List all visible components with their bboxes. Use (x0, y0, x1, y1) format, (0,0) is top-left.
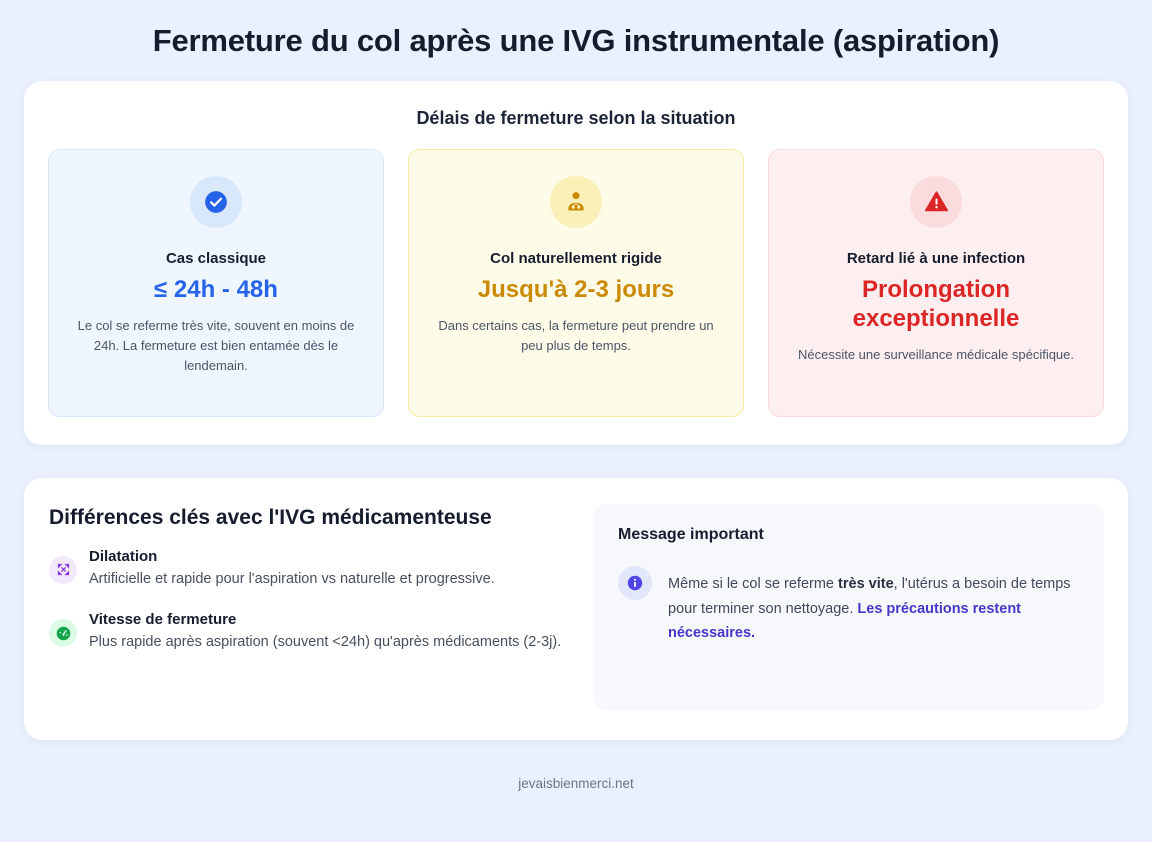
difference-text: Artificielle et rapide pour l'aspiration… (89, 567, 568, 591)
gauge-speed-icon (49, 619, 77, 647)
delay-card-label: Retard lié à une infection (787, 250, 1085, 267)
differences-title: Différences clés avec l'IVG médicamenteu… (49, 506, 568, 530)
info-circle-icon (618, 566, 652, 600)
delay-card-infection: Retard lié à une infection Prolongation … (768, 149, 1104, 417)
important-message-title: Message important (618, 526, 1080, 544)
difference-heading: Vitesse de fermeture (89, 611, 568, 628)
user-doctor-icon (550, 176, 602, 228)
difference-item-vitesse: Vitesse de fermeture Plus rapide après a… (49, 611, 568, 654)
footer-site-name: jevaisbienmerci.net (0, 740, 1152, 819)
difference-text: Plus rapide après aspiration (souvent <2… (89, 630, 568, 654)
important-message-box: Message important Même si le col se refe… (594, 504, 1104, 710)
delay-card-label: Col naturellement rigide (427, 250, 725, 267)
difference-heading: Dilatation (89, 548, 568, 565)
message-text-part-1: Même si le col se referme (668, 576, 838, 592)
delays-panel: Délais de fermeture selon la situation C… (24, 81, 1128, 445)
differences-panel: Différences clés avec l'IVG médicamenteu… (24, 478, 1128, 740)
message-text-bold: très vite (838, 576, 894, 592)
circle-check-icon (190, 176, 242, 228)
delay-card-description: Nécessite une surveillance médicale spéc… (787, 345, 1085, 365)
delay-card-classique: Cas classique ≤ 24h - 48h Le col se refe… (48, 149, 384, 417)
warning-triangle-icon (910, 176, 962, 228)
difference-item-dilatation: Dilatation Artificielle et rapide pour l… (49, 548, 568, 591)
differences-column: Différences clés avec l'IVG médicamenteu… (48, 504, 568, 659)
delay-card-description: Dans certains cas, la fermeture peut pre… (427, 316, 725, 356)
delay-card-label: Cas classique (67, 250, 365, 267)
delay-card-value: Jusqu'à 2-3 jours (427, 275, 725, 304)
delay-card-value: ≤ 24h - 48h (67, 275, 365, 304)
delay-card-value: Prolongation exceptionnelle (787, 275, 1085, 334)
delay-card-col-rigide: Col naturellement rigide Jusqu'à 2-3 jou… (408, 149, 744, 417)
important-message-text: Même si le col se referme très vite, l'u… (668, 572, 1080, 645)
delay-card-description: Le col se referme très vite, souvent en … (67, 316, 365, 376)
delay-cards-row: Cas classique ≤ 24h - 48h Le col se refe… (48, 149, 1104, 417)
arrows-expand-icon (49, 556, 77, 584)
page-root: Fermeture du col après une IVG instrumen… (0, 0, 1152, 842)
message-column: Message important Même si le col se refe… (594, 504, 1104, 710)
section-title-delays: Délais de fermeture selon la situation (48, 108, 1104, 129)
page-title: Fermeture du col après une IVG instrumen… (0, 0, 1152, 75)
